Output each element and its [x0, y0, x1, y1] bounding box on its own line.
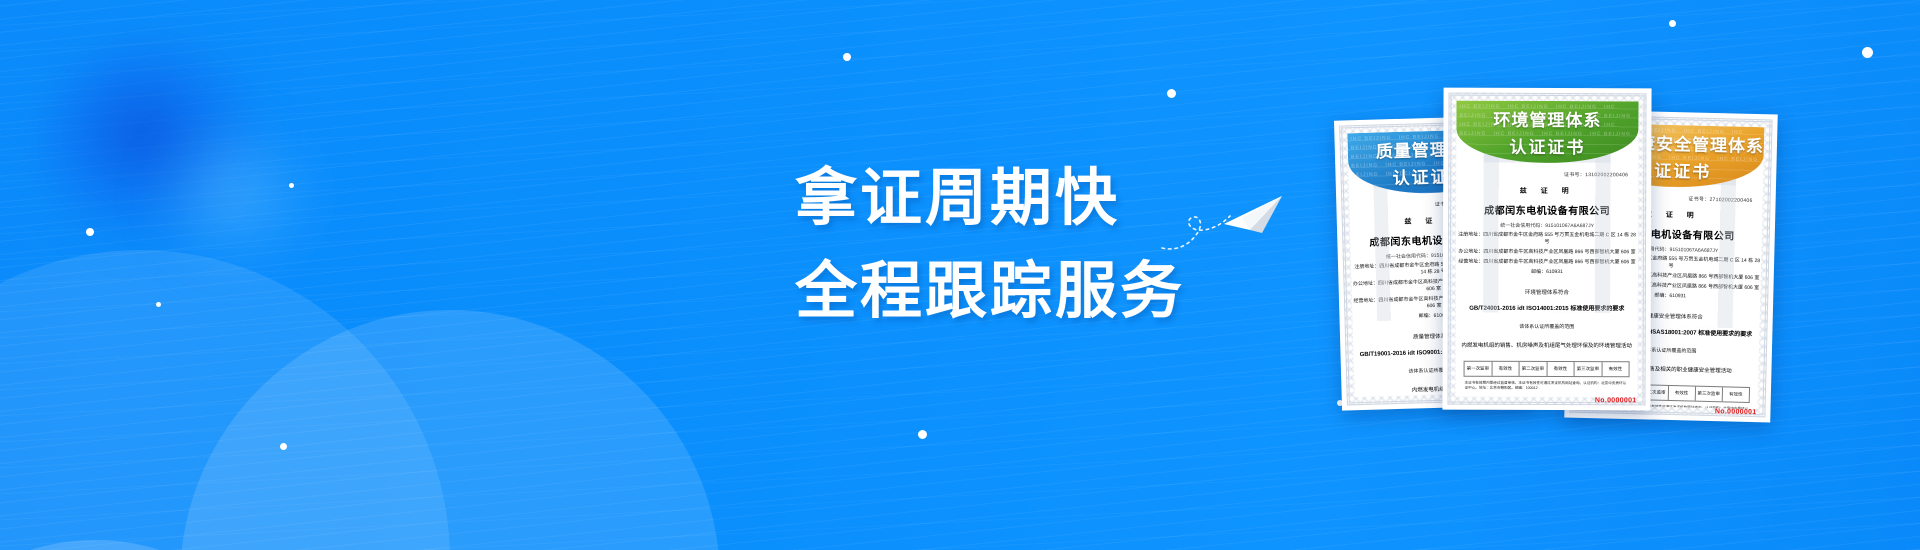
background-dot: [843, 53, 851, 61]
audit-cell: 有效性: [1547, 362, 1575, 376]
certificate-title-line-1: 环境管理体系: [1493, 106, 1601, 131]
audit-cell: 第三次监审: [1575, 362, 1603, 376]
background-dot: [289, 183, 294, 188]
banner-headline: 拿证周期快 全程跟踪服务: [795, 152, 1185, 338]
audit-cell: 第二次监审: [1520, 362, 1548, 376]
headline-line-1: 拿证周期快: [795, 152, 1185, 245]
certificate-watermark: [1483, 150, 1611, 313]
background-dot: [1167, 89, 1176, 98]
audit-cell: 有效性: [1492, 362, 1520, 376]
headline-line-2: 全程跟踪服务: [795, 245, 1185, 338]
certificate-note: 本证书有效期内需经过监督审核，本证书有效性可通过发证机构网站查询。认证机构：北京…: [1465, 381, 1629, 392]
certificate-audit-table: 第一次监审 有效性 第二次监审 有效性 第三次监审 有效性: [1464, 361, 1630, 378]
background-dot: [280, 443, 287, 450]
certificate-number: No.0000001: [1595, 397, 1637, 404]
audit-cell: 有效性: [1723, 387, 1750, 402]
background-light-glow: [150, 120, 320, 270]
paper-plane-icon: [1158, 178, 1288, 258]
audit-cell: 第一次监审: [1465, 362, 1493, 376]
background-dot: [156, 302, 161, 307]
audit-cell: 有效性: [1668, 386, 1696, 401]
certificate-header: IHC BEIJING IHC BEIJING IHC BEIJING IHC …: [1456, 101, 1638, 164]
background-dot: [86, 228, 94, 236]
certificate-scope: 内燃发电机组的销售、机房噪声及机组尾气处理环保及的环境管理活动: [1456, 341, 1638, 350]
certificate-title-line-2: 认证证书: [1509, 133, 1585, 158]
promo-banner: 拿证周期快 全程跟踪服务 IHC BEIJING IHC BEIJING IHC…: [0, 0, 1920, 550]
audit-cell: 第三次监审: [1695, 387, 1723, 402]
audit-cell: 有效性: [1602, 362, 1629, 376]
certificate-number: No.0000001: [1715, 408, 1757, 416]
certificate-environment[interactable]: IHC BEIJING IHC BEIJING IHC BEIJING IHC …: [1442, 88, 1651, 411]
background-dot: [918, 430, 927, 439]
certificate-content: IHC BEIJING IHC BEIJING IHC BEIJING IHC …: [1455, 101, 1638, 398]
certificate-scope-head: 该体系认证所覆盖的范围: [1456, 323, 1638, 331]
certificate-group: IHC BEIJING IHC BEIJING IHC BEIJING IHC …: [1338, 0, 1920, 550]
